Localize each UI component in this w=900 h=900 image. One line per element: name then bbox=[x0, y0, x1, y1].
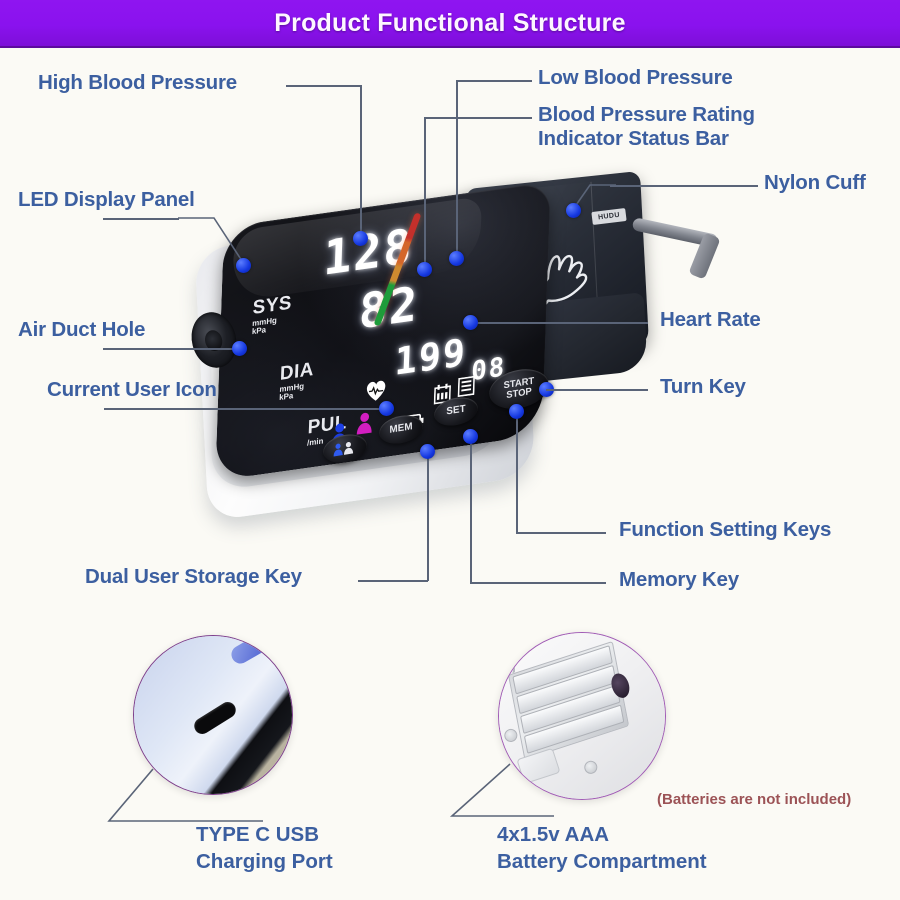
title-bar: Product Functional Structure bbox=[0, 0, 900, 48]
leader-memory-key bbox=[470, 582, 606, 584]
leader-rating-bar-v bbox=[424, 117, 426, 269]
callout-heart-rate: Heart Rate bbox=[660, 308, 761, 332]
dot-memory-key bbox=[463, 429, 478, 444]
leader-turn-key bbox=[596, 389, 648, 391]
callout-nylon-cuff: Nylon Cuff bbox=[764, 171, 866, 195]
battery-tray bbox=[508, 641, 629, 760]
dual-user-icon bbox=[333, 440, 357, 457]
callout-current-user-icon: Current User Icon bbox=[47, 378, 217, 402]
leader-battery-compartment bbox=[448, 760, 558, 830]
leader-heart-rate bbox=[470, 322, 648, 324]
dot-low-blood-pressure bbox=[449, 251, 464, 266]
leader-current-user-icon bbox=[104, 408, 386, 410]
screw-right bbox=[583, 760, 598, 775]
caption-type-c-usb: TYPE C USB Charging Port bbox=[196, 822, 333, 875]
caption-battery-compartment: 4x1.5v AAA Battery Compartment bbox=[497, 822, 707, 875]
leader-high-blood-pressure-v bbox=[360, 85, 362, 238]
pulse-value: 199 bbox=[394, 330, 468, 384]
leader-high-blood-pressure bbox=[286, 85, 362, 87]
memory-icon bbox=[458, 376, 476, 398]
screw-left bbox=[503, 728, 518, 743]
dot-high-blood-pressure bbox=[353, 231, 368, 246]
leader-led-panel bbox=[103, 218, 179, 220]
leader-memory-key-v bbox=[470, 443, 472, 583]
dot-air-duct-hole bbox=[232, 341, 247, 356]
note-batteries-not-included: (Batteries are not included) bbox=[657, 791, 851, 808]
callout-turn-key: Turn Key bbox=[660, 375, 746, 399]
heart-icon bbox=[364, 378, 389, 404]
dia-units: mmHg kPa bbox=[279, 381, 313, 403]
dia-label-group: DIA mmHg kPa bbox=[279, 359, 314, 403]
leader-turn-key-b bbox=[546, 389, 598, 391]
leader-low-blood-pressure bbox=[456, 80, 532, 82]
dot-nylon-cuff bbox=[566, 203, 581, 218]
page-title: Product Functional Structure bbox=[274, 9, 625, 38]
callout-air-duct-hole: Air Duct Hole bbox=[18, 318, 145, 342]
leader-nylon-cuff bbox=[610, 185, 758, 187]
callout-high-blood-pressure: High Blood Pressure bbox=[38, 71, 237, 95]
dot-rating-indicator-bar bbox=[417, 262, 432, 277]
callout-memory-key: Memory Key bbox=[619, 568, 739, 592]
dot-function-setting-keys bbox=[509, 404, 524, 419]
leader-low-blood-pressure-v bbox=[456, 80, 458, 258]
leader-function-setting-keys bbox=[516, 532, 606, 534]
dot-dual-user-storage-key bbox=[420, 444, 435, 459]
callout-dual-user-storage-key: Dual User Storage Key bbox=[85, 565, 302, 589]
leader-dual-user-key-v bbox=[427, 458, 429, 581]
dot-led-display-panel bbox=[236, 258, 251, 273]
sys-label-group: SYS mmHg kPa bbox=[252, 292, 293, 337]
dot-heart-rate bbox=[463, 315, 478, 330]
callout-rating-indicator-bar: Blood Pressure Rating Indicator Status B… bbox=[538, 103, 755, 151]
user-pink-icon bbox=[356, 411, 374, 436]
leader-rating-bar bbox=[424, 117, 532, 119]
leader-function-setting-keys-v bbox=[516, 418, 518, 533]
callout-function-setting-keys: Function Setting Keys bbox=[619, 518, 831, 542]
leader-air-duct-hole bbox=[103, 348, 234, 350]
dot-current-user-icon bbox=[379, 401, 394, 416]
sys-units: mmHg kPa bbox=[252, 315, 292, 338]
callout-low-blood-pressure: Low Blood Pressure bbox=[538, 66, 733, 90]
callout-led-display-panel: LED Display Panel bbox=[18, 188, 195, 212]
leader-dual-user-key bbox=[358, 580, 428, 582]
